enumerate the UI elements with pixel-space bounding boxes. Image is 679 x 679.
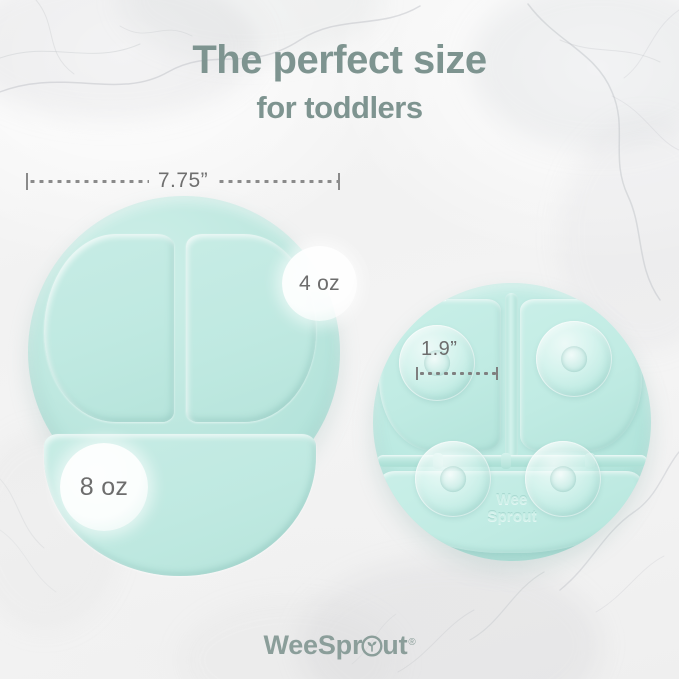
suction-cup-diameter-label: 1.9” (421, 338, 457, 361)
plate-width-dimension: 7.75” (26, 168, 340, 194)
divided-plate-underside: Wee Sprout (373, 283, 651, 561)
brand-logo: WeeSprut® (0, 630, 679, 661)
suction-cup-upper-right (536, 321, 612, 397)
headline-line-1: The perfect size (0, 36, 679, 84)
plate-width-label: 7.75” (149, 169, 217, 193)
suction-cup-nub (561, 346, 587, 372)
dimension-cap-right (338, 173, 340, 190)
capacity-badge-4oz-label: 4 oz (299, 272, 340, 296)
compartment-upper-left (44, 234, 174, 422)
brand-logo-text-part2: ut (382, 630, 407, 661)
capacity-badge-4oz: 4 oz (282, 246, 357, 321)
registered-trademark-symbol: ® (408, 637, 415, 648)
headline-line-2: for toddlers (0, 87, 679, 129)
capacity-badge-8oz: 8 oz (60, 443, 148, 531)
dimension-cap-right (496, 367, 498, 380)
brand-logo-text-part1: WeeSpr (263, 630, 362, 661)
suction-cup-upper-left (399, 325, 475, 401)
dimension-dots-right (217, 180, 338, 183)
product-infographic: The perfect size for toddlers 7.75” (0, 0, 679, 679)
page-title: The perfect size for toddlers (0, 36, 679, 129)
capacity-badge-8oz-label: 8 oz (80, 473, 128, 502)
suction-cup-dimension (416, 366, 498, 380)
dimension-dots (418, 372, 496, 375)
sprout-icon (361, 633, 383, 655)
dimension-dots-left (28, 180, 149, 183)
